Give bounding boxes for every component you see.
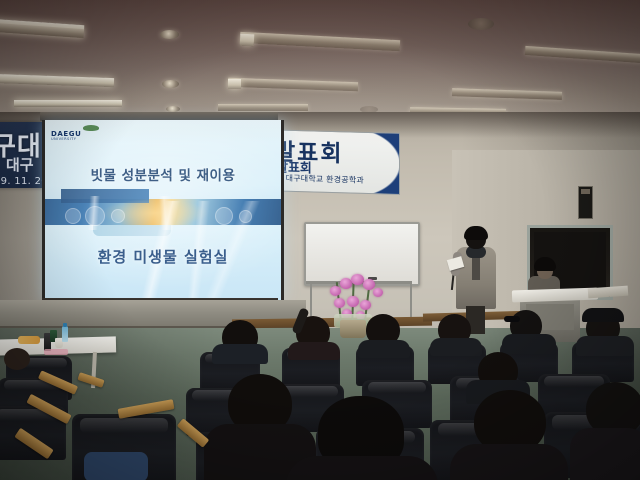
- audience-jacket: [84, 452, 148, 480]
- ceiling-light-fixture: [240, 32, 400, 51]
- flower-pot: [340, 320, 366, 338]
- ceiling-light-fixture: [228, 78, 358, 92]
- audience-body-foreground: [450, 444, 568, 480]
- audience-body: [358, 340, 410, 358]
- audience-body: [430, 338, 482, 356]
- ceiling-light-fixture: [452, 88, 562, 100]
- orchid-flower: [373, 288, 383, 297]
- slide-subtitle: 환경 미생물 실험실: [45, 246, 281, 267]
- orchid-flower: [363, 279, 375, 290]
- napkin: [44, 349, 68, 355]
- audience-body: [576, 336, 634, 356]
- university-logo: DAEGU UNIVERSITY: [51, 125, 103, 142]
- orchid-flower: [330, 286, 341, 296]
- audience-body-foreground: [570, 428, 640, 480]
- whiteboard-leg: [310, 284, 312, 320]
- ceiling-light-fixture: [0, 74, 114, 87]
- leaf-icon: [83, 125, 99, 131]
- logo-subtitle: UNIVERSITY: [51, 137, 76, 141]
- water-bottle[interactable]: [62, 326, 68, 342]
- presenter-hair: [464, 226, 488, 240]
- orchid-flower: [360, 300, 371, 310]
- audience-body: [288, 342, 340, 360]
- slide-title: 빗물 성분분석 및 재이용: [45, 164, 281, 184]
- seat-gloss: [368, 382, 427, 393]
- ceiling-downlight: [162, 80, 179, 88]
- audience-head: [4, 348, 30, 370]
- presenter-hair: [534, 257, 556, 271]
- whiteboard-leg: [410, 284, 412, 317]
- orchid-flower: [334, 298, 345, 308]
- audience-body-foreground: [286, 456, 438, 480]
- ceiling-vent: [468, 18, 494, 30]
- orchid-flower: [347, 296, 359, 307]
- banner-right-department: : 대구대학교 환경공학과: [280, 173, 364, 186]
- projection-screen: DAEGU UNIVERSITY 빗물 성분분석 및 재이용 환경 미생물 실험…: [42, 120, 284, 301]
- seminar-room-photo: 구대 대구 09. 11. 20(금) 발표회 발표회 : 대구대학교 환경공학…: [0, 0, 640, 480]
- eyeglasses-icon: [504, 316, 520, 322]
- ceiling-light-fixture: [228, 79, 241, 89]
- cap-icon: [582, 308, 624, 322]
- ceiling-light-fixture: [14, 100, 122, 107]
- ceiling-light-fixture: [0, 19, 84, 38]
- ceiling-light-fixture: [525, 46, 640, 63]
- seat-gloss: [80, 418, 167, 433]
- snack-food[interactable]: [18, 336, 40, 344]
- ceiling-light-fixture: [240, 34, 255, 47]
- ceiling-light-fixture: [0, 23, 84, 38]
- ceiling: [0, 0, 640, 120]
- seat-gloss: [544, 376, 604, 387]
- audience-body: [502, 334, 556, 354]
- wall-mounted-panel[interactable]: [578, 186, 593, 219]
- audience-body: [212, 344, 268, 364]
- ceiling-downlight: [160, 30, 179, 39]
- ceiling-light-fixture: [218, 104, 308, 111]
